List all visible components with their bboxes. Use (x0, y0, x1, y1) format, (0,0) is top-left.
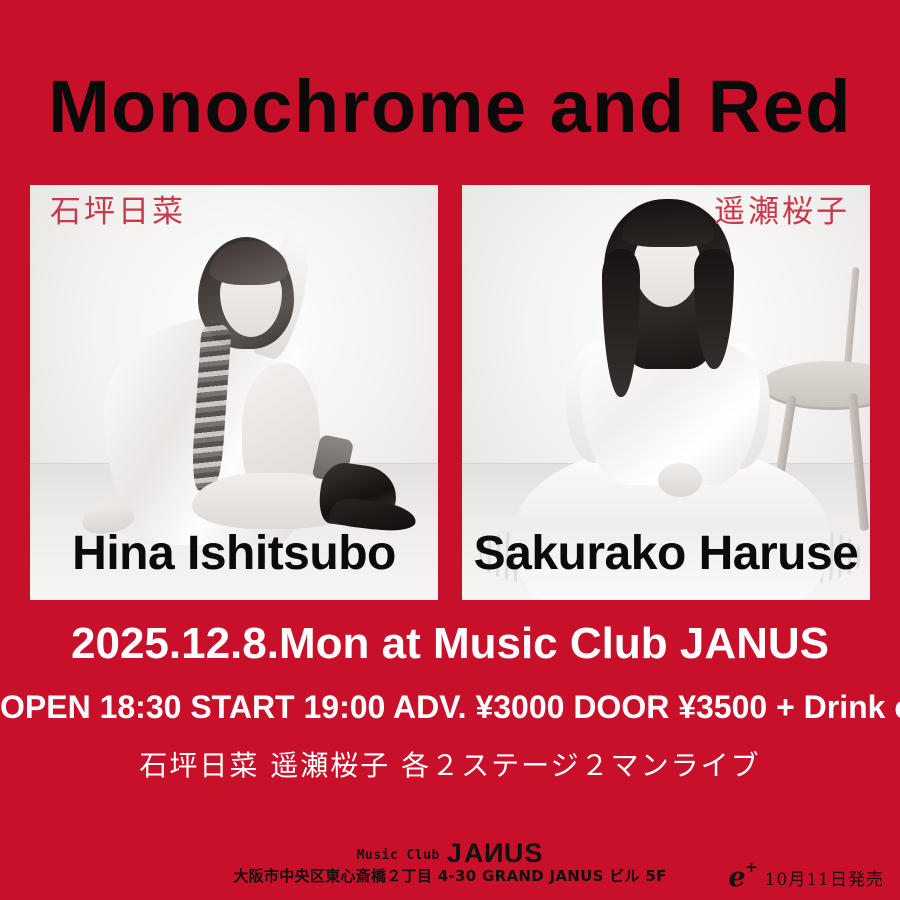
event-times-prices: OPEN 18:30 START 19:00 ADV. ¥3000 DOOR ¥… (0, 691, 900, 723)
artist-panel-hina[interactable]: 石坪日菜 Hina Ishitsubo (30, 185, 438, 600)
venue-logo-letter-a: A (463, 840, 484, 867)
event-date-venue: 2025.12.8.Mon at Music Club JANUS (0, 622, 900, 666)
venue-logo-letter-j: J (447, 838, 463, 868)
venue-logo-letter-n: N (483, 840, 504, 867)
event-description: 石坪日菜 遥瀬桜子 各２ステージ２マンライブ (0, 752, 900, 780)
eplus-logo-icon: e+ (729, 864, 746, 891)
figure-hands (658, 463, 702, 497)
artist-romaji-name-sakurako: Sakurako Haruse (462, 530, 870, 578)
venue-logo-small-text: Music Club (357, 848, 440, 863)
artist-panels: 石坪日菜 Hina Ishitsubo (30, 185, 870, 600)
page-title: Monochrome and Red (0, 70, 900, 144)
artist-romaji-name-hina: Hina Ishitsubo (30, 530, 438, 578)
artist-jp-name-sakurako: 遥瀬桜子 (714, 197, 850, 228)
event-flyer: Monochrome and Red 石坪日菜 Hina Ishitsubo (0, 0, 900, 900)
stool-backrest (843, 267, 859, 371)
artist-jp-name-hina: 石坪日菜 (50, 197, 186, 228)
ticket-onsale-date: 10月11日発売 (765, 865, 884, 890)
venue-logo: Music ClubJANUS (0, 840, 900, 867)
eplus-ticket-info[interactable]: e+ 10月11日発売 (729, 864, 884, 891)
eplus-logo-plus: + (745, 860, 758, 875)
venue-logo-letters-us: US (504, 838, 544, 868)
eplus-logo-letter: e (729, 862, 746, 893)
artist-panel-sakurako[interactable]: 遥瀬桜子 Sakurako Haruse (462, 185, 870, 600)
venue-logo-wordmark: JANUS (447, 838, 544, 868)
